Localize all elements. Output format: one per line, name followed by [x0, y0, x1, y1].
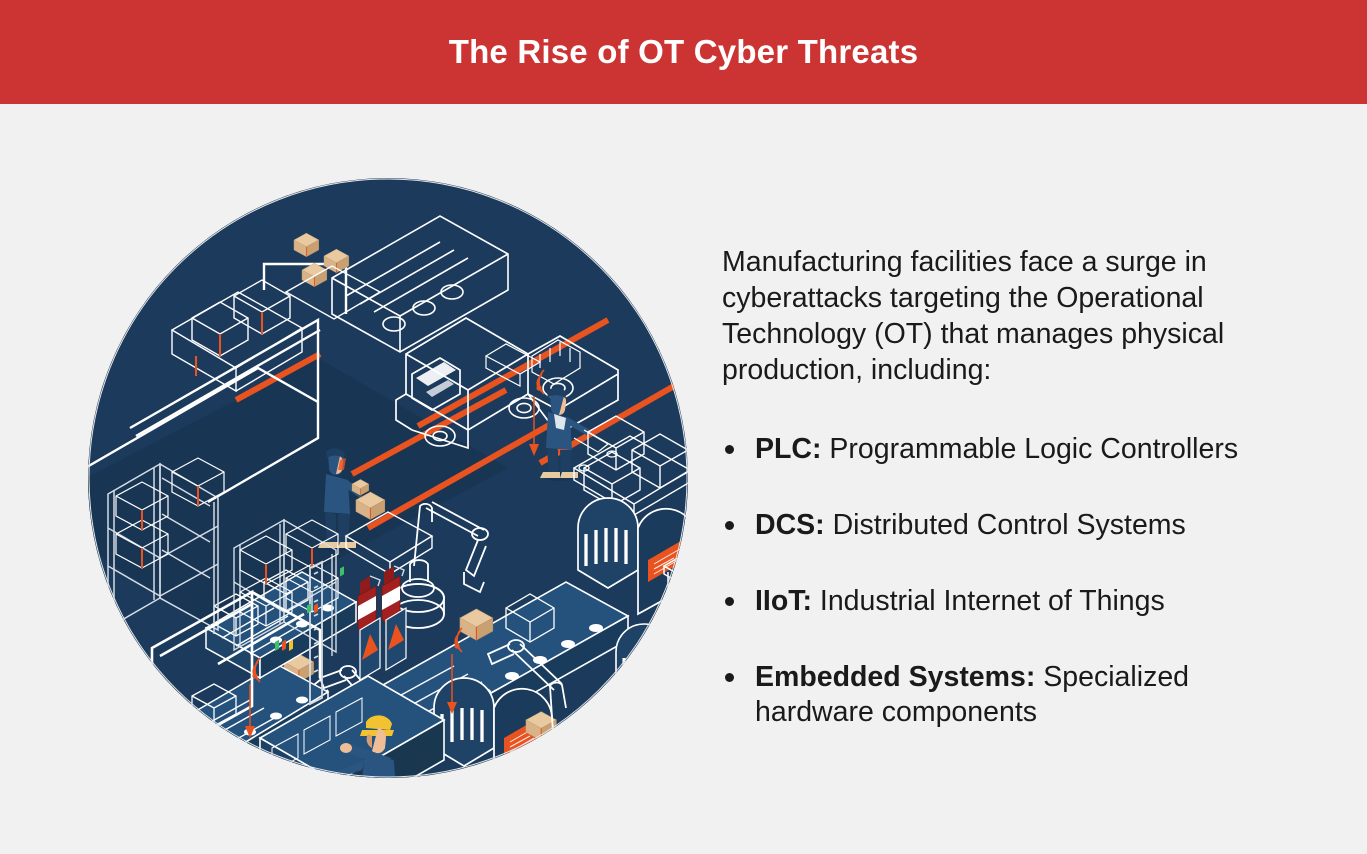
bullet-dot-icon — [725, 445, 734, 454]
bullet-dot-icon — [725, 673, 734, 682]
list-item: Embedded Systems: Specialized hardware c… — [722, 660, 1312, 730]
bullet-term: DCS: — [755, 509, 833, 541]
list-item: PLC: Programmable Logic Controllers — [722, 432, 1312, 467]
bullet-term: PLC: — [755, 433, 829, 465]
bullet-term: IIoT: — [755, 585, 820, 617]
header-banner: The Rise of OT Cyber Threats — [0, 0, 1367, 104]
bullet-description: Programmable Logic Controllers — [829, 433, 1238, 465]
intro-paragraph: Manufacturing facilities face a surge in… — [722, 244, 1312, 388]
machine-cabinet-3 — [616, 624, 688, 732]
list-item: IIoT: Industrial Internet of Things — [722, 584, 1312, 619]
text-column: Manufacturing facilities face a surge in… — [722, 244, 1312, 730]
bullet-dot-icon — [725, 521, 734, 530]
list-item: DCS: Distributed Control Systems — [722, 508, 1312, 543]
bullet-dot-icon — [725, 597, 734, 606]
ot-systems-list: PLC: Programmable Logic Controllers DCS:… — [722, 432, 1312, 730]
content-area: Manufacturing facilities face a surge in… — [0, 104, 1367, 854]
bullet-term: Embedded Systems: — [755, 661, 1043, 693]
bullet-description: Distributed Control Systems — [833, 509, 1186, 541]
page-title: The Rise of OT Cyber Threats — [449, 33, 919, 71]
bullet-description: Industrial Internet of Things — [820, 585, 1165, 617]
factory-illustration — [88, 178, 688, 778]
